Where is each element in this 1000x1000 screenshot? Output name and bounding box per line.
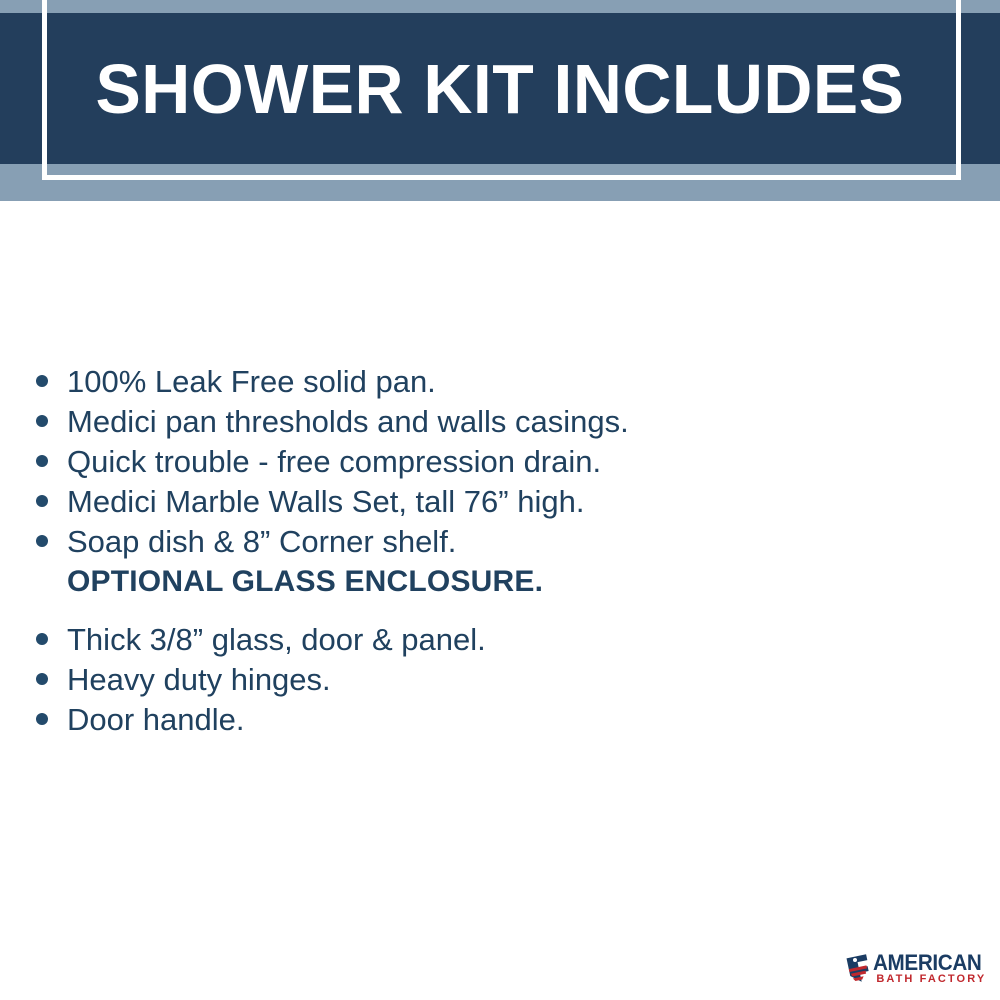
bullet-dot-icon (36, 415, 48, 427)
page-title: SHOWER KIT INCLUDES (15, 13, 985, 164)
list-item: Medici pan thresholds and walls casings. (0, 402, 1000, 442)
list-item: Thick 3/8” glass, door & panel. (0, 620, 1000, 660)
list-item: Heavy duty hinges. (0, 660, 1000, 700)
list-item-label: Soap dish & 8” Corner shelf. (67, 522, 456, 562)
bullet-dot-icon (36, 633, 48, 645)
list-item: Quick trouble - free compression drain. (0, 442, 1000, 482)
list-item: Soap dish & 8” Corner shelf. (0, 522, 1000, 562)
header-banner: SHOWER KIT INCLUDES (0, 0, 1000, 201)
section-heading-optional-glass: OPTIONAL GLASS ENCLOSURE. (0, 562, 1000, 602)
bullet-dot-icon (36, 375, 48, 387)
brand-logo: AMERICAN BATH FACTORY (846, 952, 988, 986)
features-list: 100% Leak Free solid pan. Medici pan thr… (0, 362, 1000, 740)
list-item: 100% Leak Free solid pan. (0, 362, 1000, 402)
bullet-dot-icon (36, 455, 48, 467)
list-item-label: 100% Leak Free solid pan. (67, 362, 436, 402)
bullet-dot-icon (36, 713, 48, 725)
bullet-dot-icon (36, 673, 48, 685)
list-item: Door handle. (0, 700, 1000, 740)
bullet-dot-icon (36, 535, 48, 547)
list-item-label: Medici pan thresholds and walls casings. (67, 402, 629, 442)
section-spacer (0, 602, 1000, 620)
list-item-label: Medici Marble Walls Set, tall 76” high. (67, 482, 584, 522)
list-item-label: Heavy duty hinges. (67, 660, 331, 700)
list-item: Medici Marble Walls Set, tall 76” high. (0, 482, 1000, 522)
list-item-label: Thick 3/8” glass, door & panel. (67, 620, 486, 660)
logo-brand-name: AMERICAN (873, 953, 981, 973)
shield-flag-icon (846, 954, 872, 984)
list-item-label: Door handle. (67, 700, 245, 740)
bullet-dot-icon (36, 495, 48, 507)
logo-wordmark: AMERICAN BATH FACTORY (873, 953, 988, 986)
list-item-label: Quick trouble - free compression drain. (67, 442, 601, 482)
